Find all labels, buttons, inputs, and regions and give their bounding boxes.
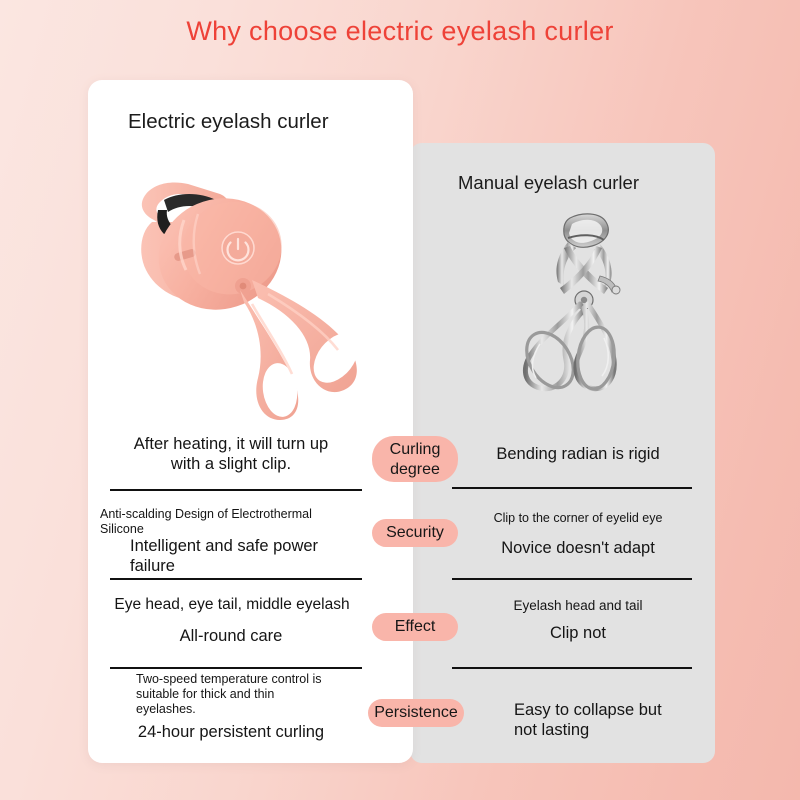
row-4-left-sub: Two-speed temperature control is suitabl…	[136, 672, 376, 717]
row-1-right-main: Bending radian is rigid	[452, 444, 704, 464]
row-4-left-cell: 24-hour persistent curling	[100, 722, 362, 742]
row-2-right-main: Novice doesn't adapt	[452, 538, 704, 558]
row-2-left-sub: Anti-scalding Design of Electrothermal S…	[100, 507, 372, 537]
comparison-poster: Why choose electric eyelash curler Manua…	[0, 0, 800, 800]
row-1-left-divider	[110, 489, 362, 491]
row-2-left-cell: Anti-scalding Design of Electrothermal S…	[100, 507, 372, 537]
comparison-table: After heating, it will turn up with a sl…	[0, 0, 800, 800]
row-4-right-cell: Easy to collapse but not lasting	[452, 700, 704, 740]
pill-security-label: Security	[370, 523, 460, 543]
row-3-left-main: All-round care	[100, 626, 362, 646]
row-2-left-main: Intelligent and safe power failure	[100, 536, 362, 576]
row-2-right-sub: Clip to the corner of eyelid eye	[452, 511, 704, 526]
pill-curling-degree: Curling degree	[370, 440, 460, 480]
row-3-right-main: Clip not	[452, 623, 704, 643]
row-3-left-sub: Eye head, eye tail, middle eyelash	[96, 595, 368, 615]
row-1-left-cell: After heating, it will turn up with a sl…	[100, 434, 362, 474]
row-2-left-divider	[110, 578, 362, 580]
row-3-right-cell: Clip not	[452, 623, 704, 643]
row-2-right-cell: Novice doesn't adapt	[452, 538, 704, 558]
row-2-right-divider	[452, 578, 692, 580]
row-3-left-sub-cell: Eye head, eye tail, middle eyelash	[96, 595, 368, 615]
row-1-right-cell: Bending radian is rigid	[452, 444, 704, 464]
row-4-left-main: 24-hour persistent curling	[100, 722, 362, 742]
row-2-left-main-cell: Intelligent and safe power failure	[100, 536, 362, 576]
pill-persistence-label: Persistence	[368, 703, 464, 723]
pill-security: Security	[370, 523, 460, 543]
row-3-right-divider	[452, 667, 692, 669]
pill-curling-degree-label: Curling degree	[370, 440, 460, 480]
row-4-right-main: Easy to collapse but not lasting	[452, 700, 704, 740]
row-3-right-sub-cell: Eyelash head and tail	[452, 598, 704, 613]
pill-effect-label: Effect	[370, 617, 460, 637]
row-1-right-divider	[452, 487, 692, 489]
row-3-left-cell: All-round care	[100, 626, 362, 646]
row-3-left-divider	[110, 667, 362, 669]
row-2-right-sub-cell: Clip to the corner of eyelid eye	[452, 511, 704, 526]
row-3-right-sub: Eyelash head and tail	[452, 598, 704, 613]
row-4-left-sub-cell: Two-speed temperature control is suitabl…	[136, 672, 376, 717]
pill-persistence: Persistence	[368, 703, 464, 723]
pill-effect: Effect	[370, 617, 460, 637]
row-1-left-main: After heating, it will turn up with a sl…	[100, 434, 362, 474]
